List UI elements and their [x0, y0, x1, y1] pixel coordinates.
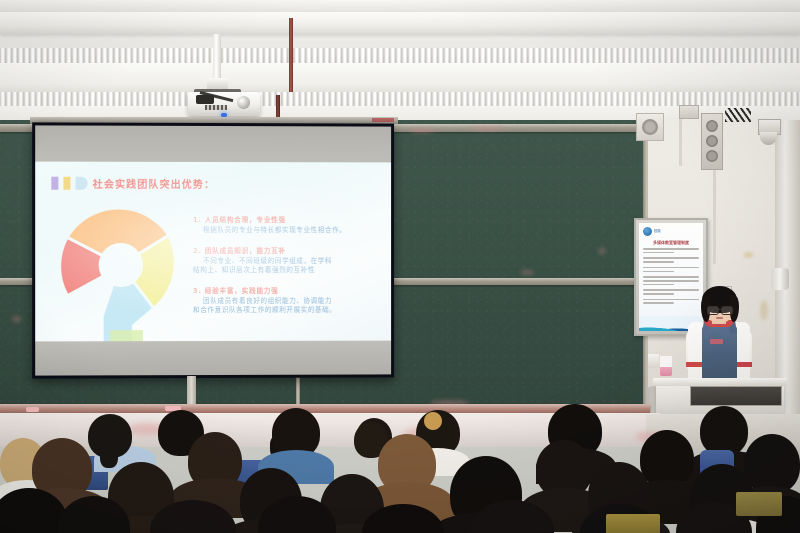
- notice-text-line: [643, 271, 674, 273]
- slide-bullet-item: 1.人员结构合理，专业性强 根据队员的专业与特长都实现专业性相合作。: [193, 214, 381, 236]
- school-logo-icon: [643, 227, 652, 236]
- notice-text-line: [643, 261, 674, 263]
- slide-bullet-item: 3.经验丰富，实践能力强 团队成员有着良好的组织能力、协调能力 和合作意识队各项…: [193, 284, 381, 315]
- audience-area: [0, 400, 800, 533]
- question-mark-donut-infographic: [59, 204, 182, 342]
- chalk-smudge: [12, 316, 21, 322]
- presentation-slide: 社会实践团队突出优势：: [35, 162, 391, 342]
- screen-surface: 社会实践团队突出优势：: [35, 125, 391, 375]
- bullet-body-line: 和合作意识队各项工作的顺利开展实的基础。: [193, 306, 381, 316]
- air-conditioner-vent: [679, 105, 699, 119]
- bullet-body-line: 团队成员有着良好的组织能力、协调能力: [193, 296, 381, 306]
- speaker-driver-icon: [706, 135, 718, 147]
- donut-hole: [99, 243, 143, 287]
- student-head: [744, 434, 800, 494]
- notice-board-title: 多媒体教室管理制度: [639, 240, 703, 246]
- notice-text-line: [643, 276, 699, 278]
- projector-vent: [205, 105, 227, 110]
- bullet-heading: 2.团队成员知识，能力互补: [193, 245, 381, 255]
- chalk-smudge: [409, 128, 435, 133]
- podium-item-box: [648, 354, 659, 368]
- projector-bracket-block: [196, 95, 214, 104]
- bullet-heading-text: 团队成员知识，能力互补: [205, 247, 286, 255]
- slide-bullet-item: 2.团队成员知识，能力互补 不同专业、不同班级的同学组成，在学科 结构上、知识层…: [193, 245, 381, 276]
- bullet-body-line: 不同专业、不同班级的同学组成，在学科: [193, 257, 381, 267]
- notice-text-line: [643, 299, 699, 301]
- glasses-bridge-icon: [717, 309, 722, 310]
- bullet-heading-text: 人员结构合理，专业性强: [205, 216, 286, 224]
- presenter-cuff-right: [736, 362, 752, 367]
- slide-bullet-list: 1.人员结构合理，专业性强 根据队员的专业与特长都实现专业性相合作。 2.团队成…: [193, 214, 381, 325]
- notice-text-line: [643, 257, 699, 259]
- glasses-icon-right: [721, 306, 733, 315]
- student-head: [700, 406, 748, 456]
- slide-title-row: 社会实践团队突出优势：: [51, 176, 215, 191]
- bullet-heading: 1.人员结构合理，专业性强: [193, 214, 381, 224]
- notice-text-line: [643, 267, 699, 269]
- bullet-body-line: 根据队员的专业与特长都实现专业性相合作。: [193, 226, 381, 236]
- projector-mount-pole: [213, 34, 221, 84]
- title-marker-yellow-icon: [63, 177, 70, 190]
- ceiling-slab: [0, 63, 800, 93]
- presenter-chest-badge: [710, 339, 723, 344]
- red-sprinkler-pipe: [289, 18, 293, 92]
- student-ponytail: [100, 444, 118, 468]
- notice-text-line: [643, 252, 674, 254]
- wall-speaker-square: [636, 113, 664, 141]
- lectern-top-surface: [653, 378, 787, 386]
- slide-title: 社会实践团队突出优势：: [93, 176, 215, 191]
- speaker-driver-icon: [706, 150, 718, 162]
- presenter-cuff-left: [686, 362, 702, 367]
- pillar-junction-box: [771, 268, 789, 290]
- podium-cup: [660, 356, 672, 376]
- glasses-icon-left: [707, 306, 719, 315]
- wall-speaker-column: [701, 113, 723, 170]
- presenter-overall-dress: [702, 326, 737, 384]
- title-marker-purple-icon: [51, 177, 58, 190]
- notice-text-line: [643, 248, 699, 250]
- notice-text-line: [643, 293, 674, 295]
- desk-surface: [736, 492, 782, 516]
- question-mark-dot: [110, 330, 143, 341]
- wall-stain: [760, 300, 768, 320]
- notice-text-line: [643, 280, 699, 282]
- bullet-number: 1.: [193, 216, 202, 224]
- classroom-photo: 校徽 多媒体教室管理制度: [0, 0, 800, 533]
- cable-bundle: [725, 108, 751, 122]
- chalk-smudge: [598, 248, 606, 254]
- notice-board: 校徽 多媒体教室管理制度: [634, 218, 708, 336]
- chalk-smudge: [520, 270, 534, 275]
- wall-conduit: [679, 118, 682, 166]
- bullet-number: 3.: [193, 287, 202, 295]
- notice-text-line: [643, 284, 674, 286]
- donut-svg: [59, 204, 182, 342]
- bullet-heading-text: 经验丰富，实践能力强: [205, 287, 279, 295]
- presenter-mouth: [716, 317, 723, 319]
- bullet-body-line: 结构上、知识层次上有着强烈的互补性: [193, 266, 381, 276]
- bullet-number: 2.: [193, 247, 202, 255]
- projection-screen: 社会实践团队突出优势：: [32, 122, 394, 378]
- speaker-driver-icon: [706, 120, 718, 132]
- chalk-smudge: [470, 126, 504, 130]
- ceiling-beam-main: [0, 12, 800, 34]
- student-hair-highlight: [424, 412, 442, 430]
- desk-surface: [606, 514, 660, 533]
- title-marker-blue-icon: [76, 177, 88, 190]
- screen-inactive-bottom: [35, 341, 391, 376]
- notice-logo-text: 校徽: [654, 228, 661, 233]
- screen-inactive-top: [35, 125, 391, 162]
- bullet-heading: 3.经验丰富，实践能力强: [193, 284, 381, 294]
- wall-stain: [744, 252, 753, 258]
- notice-text-line: [643, 289, 699, 291]
- notice-board-sheet: 校徽 多媒体教室管理制度: [639, 223, 703, 331]
- notice-board-body: [643, 248, 699, 306]
- wall-conduit: [713, 168, 716, 264]
- notice-text-line: [643, 302, 674, 304]
- projector-lens-icon: [237, 96, 250, 109]
